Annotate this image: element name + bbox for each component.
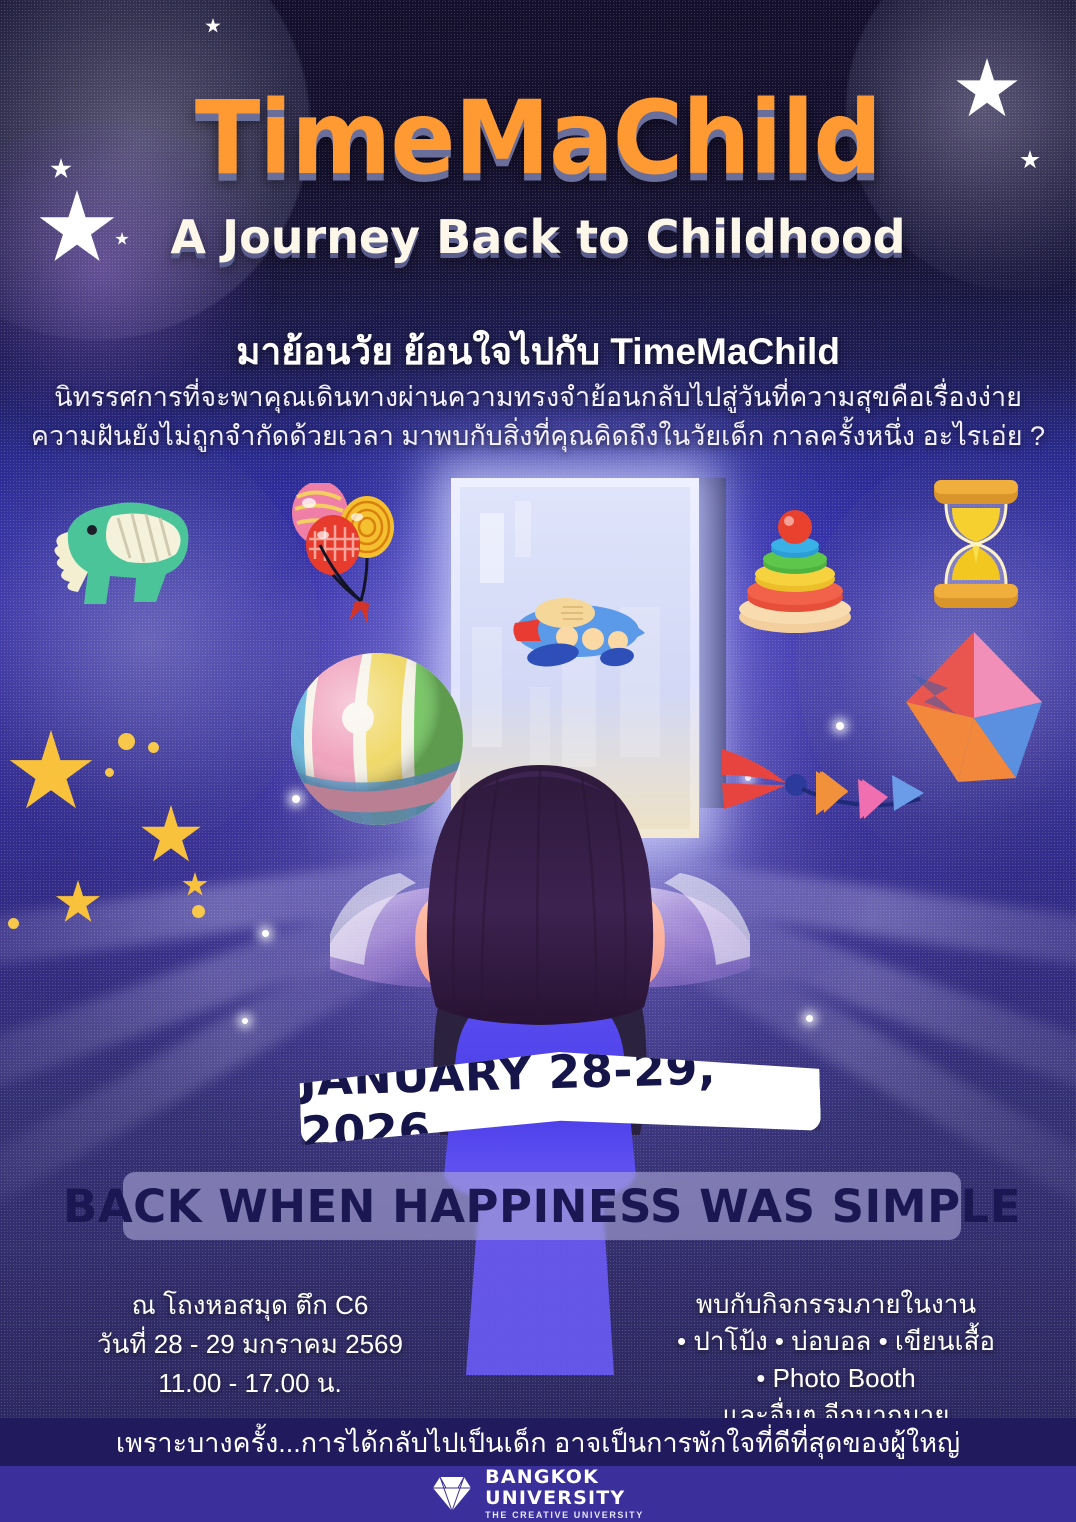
thai-description: นิทรรศการที่จะพาคุณเดินทางผ่านความทรงจำย…: [0, 378, 1076, 456]
sparkle-4: [836, 722, 844, 730]
dinosaur-toy-icon: [48, 492, 208, 622]
footer-band: เพราะบางครั้ง...การได้กลับไปเป็นเด็ก อาจ…: [0, 1418, 1076, 1466]
star-gold-left-2: [140, 805, 202, 867]
sparkle-2: [242, 1018, 248, 1024]
gold-dot-2: [148, 742, 159, 753]
tagline-text: BACK WHEN HAPPINESS WAS SIMPLE: [63, 1180, 1021, 1233]
gold-dot-4: [8, 918, 19, 929]
gold-dot-1: [118, 733, 135, 750]
gold-dot-3: [192, 905, 205, 918]
logo-tagline: THE CREATIVE UNIVERSITY: [485, 1511, 644, 1520]
title-block: TimeMaChild A Journey Back to Childhood: [0, 82, 1076, 264]
thai-description-line-1: นิทรรศการที่จะพาคุณเดินทางผ่านความทรงจำย…: [0, 378, 1076, 417]
thai-heading: มาย้อนวัย ย้อนใจไปกับ TimeMaChild: [0, 322, 1076, 381]
venue-date: วันที่ 28 - 29 มกราคม 2569: [60, 1325, 440, 1364]
activities-line-1: • ปาโป้ง • บ่อบอล • เขียนเสื้อ: [651, 1323, 1021, 1360]
sparkle-1: [262, 930, 269, 937]
poster-title: TimeMaChild: [0, 79, 1076, 198]
venue-time: 11.00 - 17.00 น.: [60, 1364, 440, 1403]
activities-info: พบกับกิจกรรมภายในงาน • ปาโป้ง • บ่อบอล •…: [651, 1286, 1021, 1434]
star-gold-left-1: [8, 730, 94, 816]
tagline-bar: BACK WHEN HAPPINESS WAS SIMPLE: [123, 1172, 961, 1240]
gold-dot-5: [105, 768, 114, 777]
toy-airplane-icon: [505, 585, 650, 673]
ring-stacker-toy-icon: [735, 505, 855, 633]
star-gold-left-3: [55, 880, 101, 926]
thai-description-line-2: ความฝันยังไม่ถูกจำกัดด้วยเวลา มาพบกับสิ่…: [0, 417, 1076, 456]
logo-text: BANGKOK UNIVERSITY THE CREATIVE UNIVERSI…: [485, 1468, 644, 1520]
balloons-icon: [275, 483, 405, 623]
venue-info: ณ โถงหอสมุด ตึก C6 วันที่ 28 - 29 มกราคม…: [60, 1286, 440, 1403]
star-white-topmid: [205, 18, 221, 34]
poster-subtitle: A Journey Back to Childhood: [0, 210, 1076, 264]
footer-tagline: เพราะบางครั้ง...การได้กลับไปเป็นเด็ก อาจ…: [116, 1421, 960, 1464]
logo-bar: BANGKOK UNIVERSITY THE CREATIVE UNIVERSI…: [0, 1466, 1076, 1522]
venue-location: ณ โถงหอสมุด ตึก C6: [60, 1286, 440, 1325]
star-gold-left-4: [182, 872, 208, 898]
activities-line-2: • Photo Booth: [651, 1360, 1021, 1397]
bunting-ribbon-icon: [720, 735, 950, 845]
sparkle-5: [806, 1015, 813, 1022]
poster-root: TimeMaChild A Journey Back to Childhood …: [0, 0, 1076, 1522]
diamond-logo-icon: [432, 1475, 472, 1513]
hourglass-icon: [930, 478, 1022, 610]
logo-line-2: UNIVERSITY: [485, 1489, 644, 1508]
activities-heading: พบกับกิจกรรมภายในงาน: [651, 1286, 1021, 1323]
logo-line-1: BANGKOK: [485, 1468, 644, 1487]
